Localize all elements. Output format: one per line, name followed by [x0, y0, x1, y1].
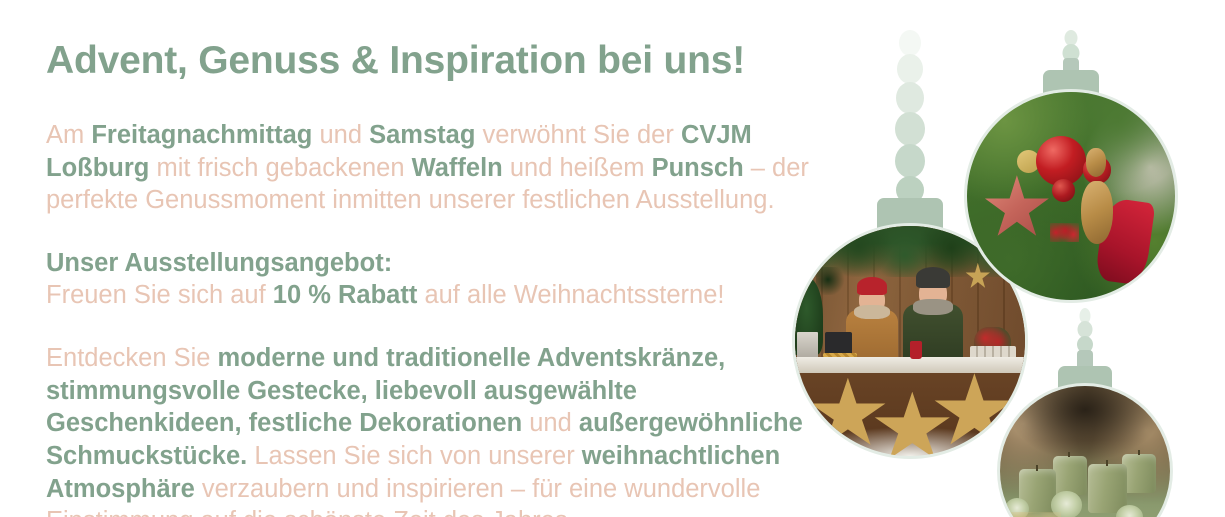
run-text: Am: [46, 121, 91, 149]
person-woman: [846, 277, 899, 364]
run-text: Freitagnachmittag: [91, 121, 319, 149]
run-text: Entdecken Sie: [46, 344, 218, 372]
glitter-star-icon: [984, 175, 1051, 242]
scarf: [854, 305, 890, 319]
counter-top: [795, 357, 1025, 373]
paragraph-entdecken: Entdecken Sie moderne und traditionelle …: [46, 342, 836, 517]
run-text: Lassen Sie sich von unserer: [247, 442, 582, 470]
run-text: Samstag: [369, 121, 482, 149]
red-punch-cup: [910, 341, 922, 359]
run-text: mit frisch gebackenen: [149, 154, 411, 182]
paragraph-angebot: Unser Ausstellungsangebot: Freuen Sie si…: [46, 247, 836, 312]
pine-cone: [1081, 181, 1112, 243]
dark-beanie: [916, 267, 951, 287]
run-text: Waffeln: [412, 154, 510, 182]
run-text: und: [319, 121, 369, 149]
red-bauble: [1052, 179, 1075, 202]
run-text: auf alle Weihnachtssterne!: [424, 281, 724, 309]
ornament-bead-icon: [897, 54, 923, 84]
page-title: Advent, Genuss & Inspiration bei uns!: [46, 40, 836, 83]
advent-candle: [1053, 456, 1087, 495]
ornament-bead-icon: [895, 144, 925, 178]
ornament-candles: [1000, 308, 1170, 478]
text-column: Advent, Genuss & Inspiration bei uns! Am…: [46, 40, 836, 517]
scarf: [913, 299, 954, 314]
holly-berries: [1050, 223, 1079, 242]
ornament-bead-icon: [895, 112, 925, 146]
ornament-photo-wreath: [967, 92, 1175, 300]
advent-candle: [1122, 454, 1156, 493]
run-text: 10 % Rabatt: [273, 281, 425, 309]
red-bauble: [1036, 136, 1086, 186]
holly-branch: [816, 267, 846, 295]
ornament-bead-icon: [899, 30, 921, 56]
red-beanie: [857, 277, 888, 295]
ornament-bead-icon: [896, 82, 924, 114]
run-text: und heißem: [510, 154, 652, 182]
run-text: Unser Ausstellungsangebot:: [46, 249, 392, 277]
gold-berries: [1010, 512, 1061, 517]
paragraph-waffeln: Am Freitagnachmittag und Samstag verwöhn…: [46, 119, 836, 217]
run-text: Punsch: [652, 154, 751, 182]
run-text: verwöhnt Sie der: [483, 121, 681, 149]
run-text: Freuen Sie sich auf: [46, 281, 273, 309]
run-text: und: [529, 409, 579, 437]
advent-promo-banner: Advent, Genuss & Inspiration bei uns! Am…: [0, 0, 1225, 517]
ornament-wreath: [967, 26, 1175, 234]
ornament-photo-candles: [1000, 386, 1170, 517]
